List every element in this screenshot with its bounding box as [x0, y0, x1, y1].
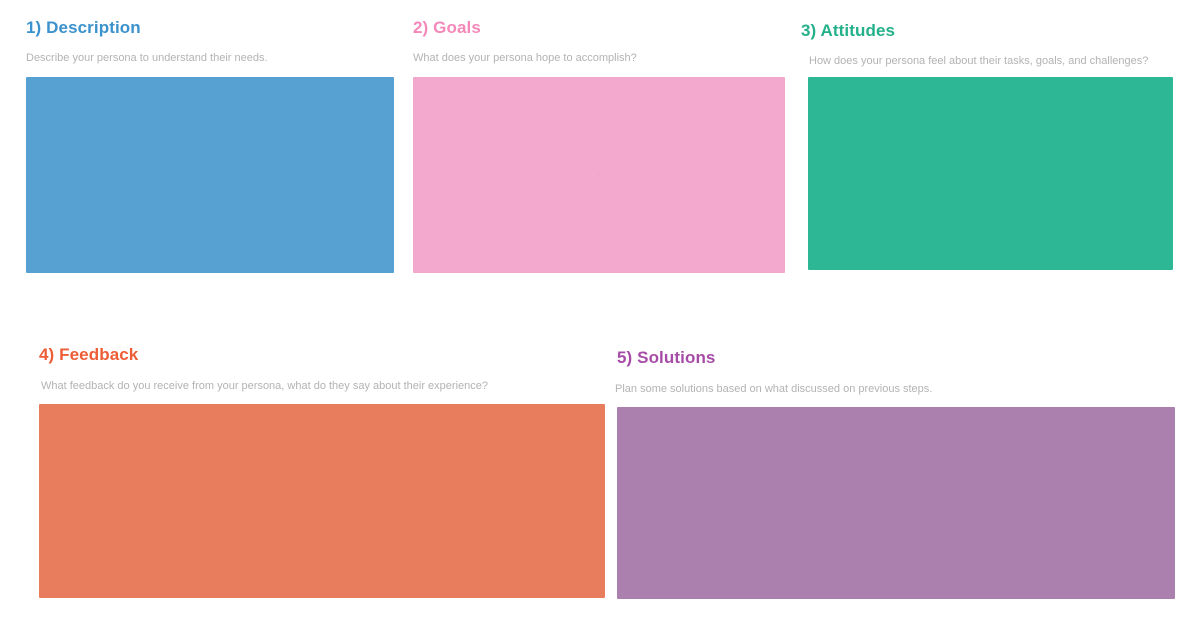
- canvas-center-mark-icon: ·: [895, 500, 897, 507]
- step-title-description: 1) Description: [26, 18, 394, 38]
- step-card-feedback: 4) Feedback What feedback do you receive…: [38, 345, 605, 598]
- step-title-solutions: 5) Solutions: [617, 348, 1175, 368]
- canvas-center-mark-icon: ·: [598, 172, 600, 179]
- step-prompt-description: Describe your persona to understand thei…: [26, 51, 394, 66]
- step-card-solutions: 5) Solutions Plan some solutions based o…: [615, 348, 1175, 599]
- step-canvas-feedback[interactable]: ·: [39, 404, 605, 598]
- step-title-attitudes: 3) Attitudes: [801, 21, 1173, 41]
- step-canvas-attitudes[interactable]: ·: [808, 77, 1173, 270]
- step-card-description: 1) Description Describe your persona to …: [26, 18, 394, 273]
- step-canvas-goals[interactable]: ·: [413, 77, 785, 273]
- step-title-feedback: 4) Feedback: [39, 345, 605, 365]
- canvas-center-mark-icon: ·: [321, 498, 323, 505]
- step-canvas-description[interactable]: ·: [26, 77, 394, 273]
- step-card-attitudes: 3) Attitudes How does your persona feel …: [801, 21, 1173, 270]
- canvas-center-mark-icon: ·: [209, 172, 211, 179]
- step-prompt-attitudes: How does your persona feel about their t…: [809, 54, 1173, 69]
- step-canvas-solutions[interactable]: ·: [617, 407, 1175, 599]
- persona-workshop-board: 1) Description Describe your persona to …: [0, 0, 1200, 629]
- step-prompt-solutions: Plan some solutions based on what discus…: [615, 382, 1175, 397]
- step-prompt-feedback: What feedback do you receive from your p…: [41, 379, 605, 394]
- step-prompt-goals: What does your persona hope to accomplis…: [413, 51, 785, 66]
- step-title-goals: 2) Goals: [413, 18, 785, 38]
- step-card-goals: 2) Goals What does your persona hope to …: [413, 18, 785, 273]
- canvas-center-mark-icon: ·: [989, 170, 991, 177]
